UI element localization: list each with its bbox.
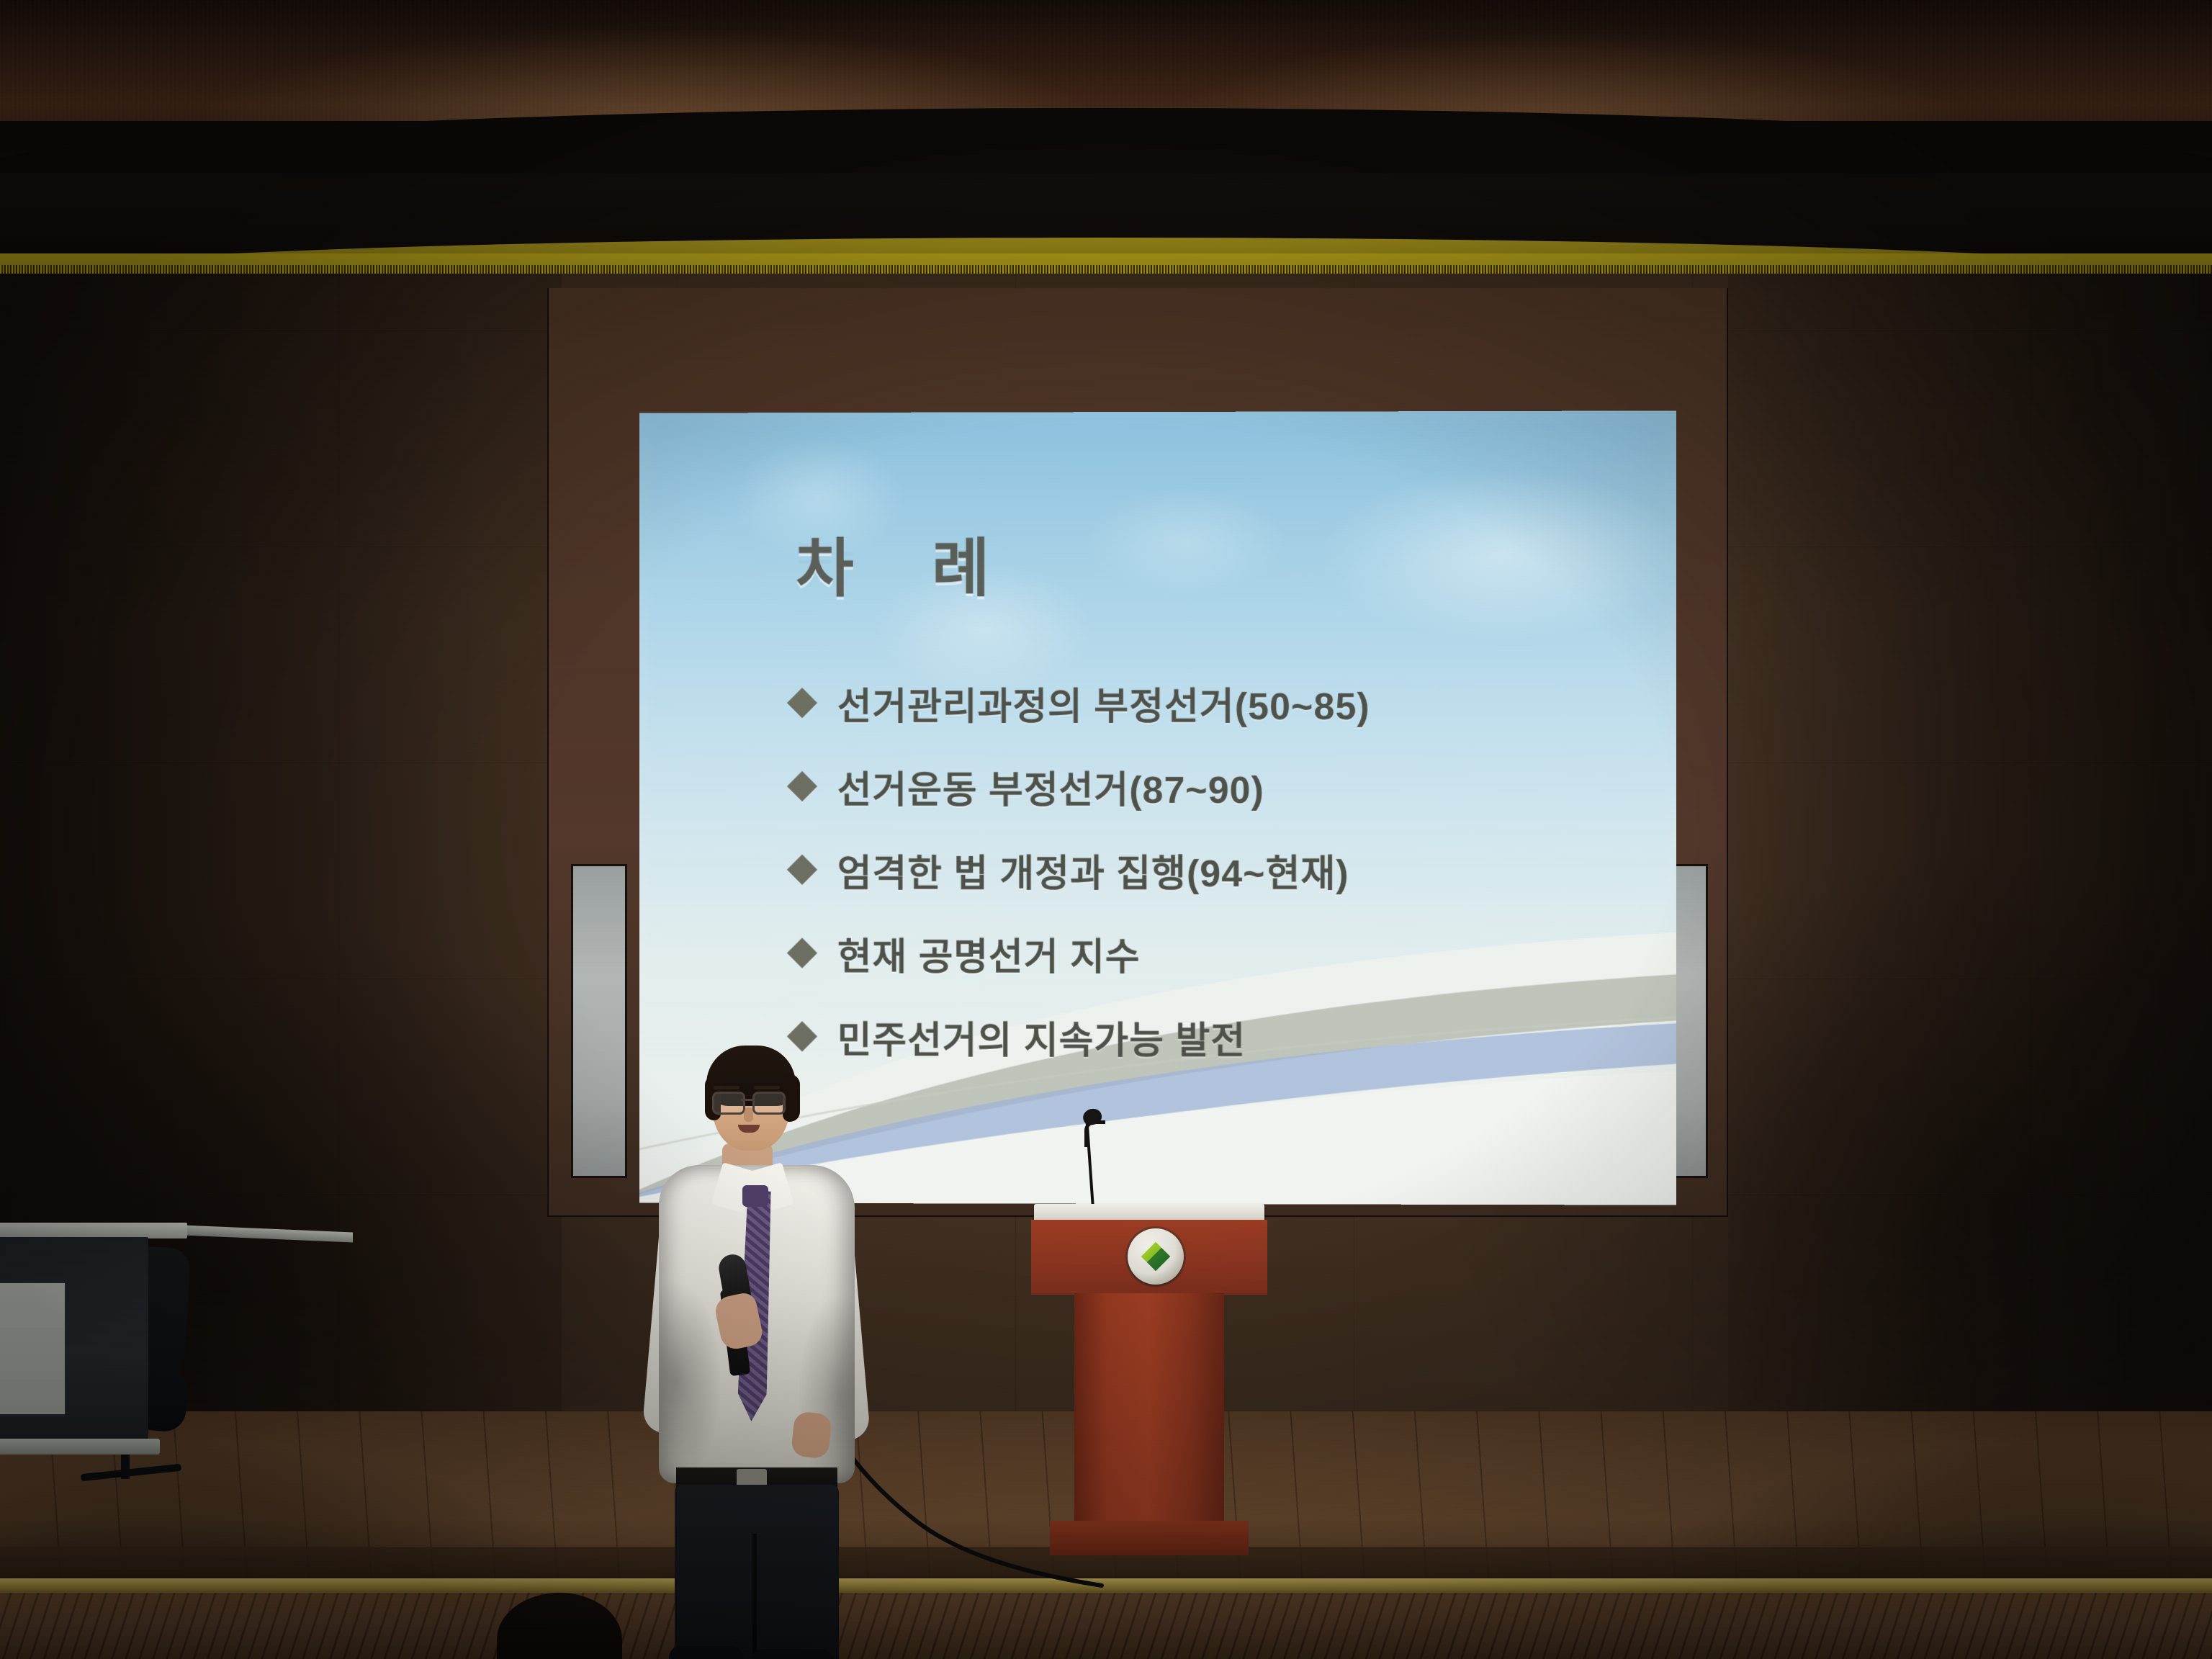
diamond-bullet-icon bbox=[787, 855, 817, 885]
lectern-base bbox=[1050, 1521, 1249, 1555]
presenter-shoe-left bbox=[669, 1646, 745, 1659]
lectern-emblem-icon bbox=[1128, 1228, 1184, 1285]
list-item: 선거관리과정의 부정선거(50~85) bbox=[791, 660, 1642, 745]
lectern-column bbox=[1074, 1293, 1224, 1554]
console-top-surface bbox=[0, 1223, 187, 1238]
presenter-eyebrow-right bbox=[754, 1086, 780, 1089]
list-item: 선거운동 부정선거(87~90) bbox=[791, 745, 1642, 828]
presenter-nose bbox=[744, 1107, 753, 1122]
list-item-label: 선거관리과정의 부정선거(50~85) bbox=[837, 675, 1370, 729]
slide-bullet-list: 선거관리과정의 부정선거(50~85) 선거운동 부정선거(87~90) 엄격한… bbox=[791, 660, 1642, 1079]
wall-speaker-left bbox=[571, 864, 627, 1178]
list-item-label: 선거운동 부정선거(87~90) bbox=[837, 759, 1264, 813]
wall-shadow-right bbox=[1728, 274, 2212, 1411]
list-item-label: 민주선거의 지속가능 발전 bbox=[837, 1010, 1246, 1064]
list-item-label: 현재 공명선거 지수 bbox=[837, 926, 1141, 980]
list-item: 민주선거의 지속가능 발전 bbox=[791, 994, 1642, 1079]
stage-apron bbox=[0, 1593, 2212, 1659]
presenter-necktie-knot bbox=[742, 1185, 768, 1207]
presenter-right-hand bbox=[791, 1411, 832, 1459]
list-item: 현재 공명선거 지수 bbox=[791, 912, 1642, 996]
eyeglasses-lens-right-icon bbox=[752, 1092, 786, 1115]
list-item: 엄격한 법 개정과 집행(94~현재) bbox=[791, 828, 1642, 912]
presenter-shoe-right bbox=[750, 1649, 833, 1659]
emblem-green-mark-icon bbox=[1139, 1240, 1172, 1273]
list-item-label: 엄격한 법 개정과 집행(94~현재) bbox=[837, 842, 1349, 896]
eyeglasses-bridge-icon bbox=[741, 1099, 752, 1101]
presenter-eyebrow-left bbox=[714, 1086, 739, 1089]
diamond-bullet-icon bbox=[787, 688, 817, 718]
presenter bbox=[652, 1044, 868, 1659]
console-base bbox=[0, 1439, 160, 1455]
presenter-trouser-seam bbox=[752, 1534, 757, 1659]
eyeglasses-lens-left-icon bbox=[712, 1092, 745, 1115]
auditorium-scene: 차 례 차 례 선거관리과정의 부정선거(50~85) 선거운동 부정선거(87… bbox=[0, 0, 2212, 1659]
brass-nosing-strip bbox=[0, 1578, 2212, 1594]
diamond-bullet-icon bbox=[787, 938, 817, 968]
diamond-bullet-icon bbox=[787, 771, 817, 801]
presenter-trousers bbox=[675, 1485, 839, 1659]
slide-title: 차 례 bbox=[796, 517, 1020, 608]
console-front-panel bbox=[0, 1282, 66, 1416]
